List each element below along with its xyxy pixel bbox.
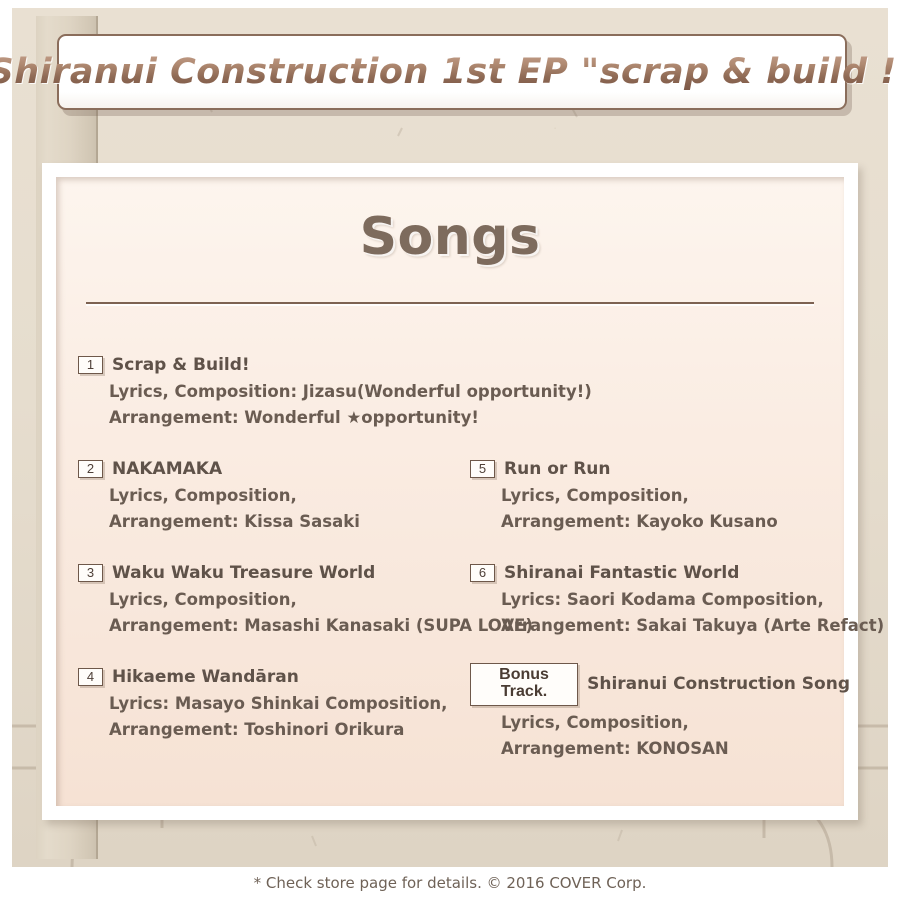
bonus-track-badge: Bonus Track.	[470, 663, 578, 706]
track-title: Scrap & Build!	[112, 355, 250, 375]
track-credit-line: Arrangement: Kayoko Kusano	[501, 512, 778, 531]
page-title: Shiranui Construction 1st EP "scrap & bu…	[0, 52, 900, 92]
track-number-badge: 6	[470, 564, 495, 583]
section-heading: Songs	[56, 207, 844, 267]
track-number-badge: 1	[78, 356, 103, 375]
footer-note: * Check store page for details. © 2016 C…	[0, 874, 900, 892]
track-credit-line: Lyrics: Saori Kodama Composition,	[501, 590, 884, 609]
track-credit-line: Lyrics, Composition: Jizasu(Wonderful op…	[109, 382, 592, 401]
songs-frame: Songs 1 Scrap & Build! Lyrics, Compositi…	[42, 163, 858, 820]
track-header: 4 Hikaeme Wandāran	[78, 667, 447, 687]
poster-canvas: Shiranui Construction 1st EP "scrap & bu…	[0, 0, 900, 900]
title-plate: Shiranui Construction 1st EP "scrap & bu…	[57, 34, 847, 110]
track-credit-line: Arrangement: Sakai Takuya (Arte Refact)	[501, 616, 884, 635]
track-number-badge: 2	[78, 460, 103, 479]
track-title: Waku Waku Treasure World	[112, 563, 375, 583]
track-credit-line: Lyrics, Composition,	[501, 713, 850, 732]
track-credit-line: Arrangement: Wonderful ★opportunity!	[109, 408, 592, 427]
track-credit-line: Arrangement: KONOSAN	[501, 739, 850, 758]
track-header: 5 Run or Run	[470, 459, 778, 479]
track-title: Run or Run	[504, 459, 611, 479]
track-credit-line: Lyrics, Composition,	[501, 486, 778, 505]
heading-divider	[86, 302, 814, 304]
track-item: 3 Waku Waku Treasure World Lyrics, Compo…	[78, 563, 533, 635]
track-credit-line: Arrangement: Toshinori Orikura	[109, 720, 447, 739]
track-title: NAKAMAKA	[112, 459, 222, 479]
track-listing: 1 Scrap & Build! Lyrics, Composition: Ji…	[56, 355, 844, 806]
track-credit-line: Lyrics, Composition,	[109, 486, 360, 505]
track-header: 3 Waku Waku Treasure World	[78, 563, 533, 583]
track-header: 6 Shiranai Fantastic World	[470, 563, 884, 583]
track-item: 6 Shiranai Fantastic World Lyrics: Saori…	[470, 563, 884, 635]
track-credit-line: Arrangement: Kissa Sasaki	[109, 512, 360, 531]
track-title: Shiranai Fantastic World	[504, 563, 739, 583]
track-item: 4 Hikaeme Wandāran Lyrics: Masayo Shinka…	[78, 667, 447, 739]
track-item: 1 Scrap & Build! Lyrics, Composition: Ji…	[78, 355, 592, 427]
track-number-badge: 4	[78, 668, 103, 687]
track-header: Bonus Track. Shiranui Construction Song	[470, 663, 850, 706]
track-item: 5 Run or Run Lyrics, Composition, Arrang…	[470, 459, 778, 531]
track-item: 2 NAKAMAKA Lyrics, Composition, Arrangem…	[78, 459, 360, 531]
songs-panel: Songs 1 Scrap & Build! Lyrics, Compositi…	[56, 177, 844, 806]
track-title: Hikaeme Wandāran	[112, 667, 299, 687]
track-credit-line: Lyrics: Masayo Shinkai Composition,	[109, 694, 447, 713]
track-header: 2 NAKAMAKA	[78, 459, 360, 479]
track-number-badge: 3	[78, 564, 103, 583]
bonus-track-item: Bonus Track. Shiranui Construction Song …	[470, 663, 850, 758]
track-title: Shiranui Construction Song	[587, 674, 850, 694]
track-number-badge: 5	[470, 460, 495, 479]
track-header: 1 Scrap & Build!	[78, 355, 592, 375]
